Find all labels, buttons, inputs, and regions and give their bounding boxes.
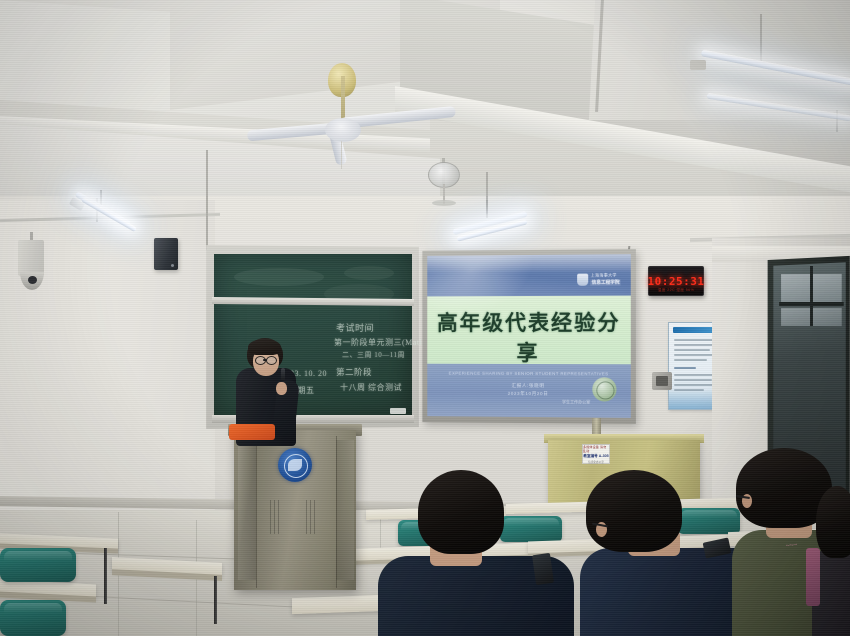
chair[interactable] — [0, 600, 66, 636]
chair-highlight — [4, 603, 62, 613]
chair-highlight — [4, 551, 72, 561]
cabinet-label-line-2: 教室编号 A-305 — [583, 454, 608, 459]
wall-speaker — [154, 238, 178, 270]
camera-lens-icon — [28, 276, 37, 284]
poster-subheading — [674, 367, 696, 369]
security-camera-housing — [18, 240, 44, 276]
poster-text-line — [674, 379, 712, 381]
slide-band-top: 上海海事大学 信息工程学院 — [427, 254, 631, 296]
hanging-wire-2 — [206, 150, 208, 250]
poster-heading — [673, 327, 715, 333]
slide-title: 高年级代表经验分享 — [427, 307, 631, 368]
chair-highlight — [681, 510, 737, 518]
speaker-led-icon — [171, 264, 174, 267]
desk-leg — [104, 548, 107, 604]
chalk-line-3: 二、三周 10—11周 — [342, 350, 405, 360]
cabinet-label-line-1: 多媒体设备 请勿乱动 — [583, 445, 609, 453]
podium-vent-slot — [310, 500, 311, 534]
wall-junction-box-face — [656, 376, 668, 386]
podium-side-panel-right — [336, 440, 354, 580]
door-mullion-v — [810, 266, 813, 326]
presenter-hand — [276, 382, 287, 395]
slide-presenter-line-1: 汇报人:张晓明 — [427, 383, 631, 390]
digital-wall-clock: 10:25:31 温度 22C 湿度 56% — [648, 266, 704, 296]
chalk-line-5: 十八周 综合测试 — [340, 382, 402, 393]
chalk-line-4: 第二阶段 — [336, 366, 372, 378]
student-4-bag-strap — [806, 548, 820, 606]
poster-text-line — [674, 384, 715, 386]
slide-logo-text: 上海海事大学 信息工程学院 — [591, 272, 621, 285]
student-4-hair — [816, 486, 850, 558]
partition-wall — [589, 0, 850, 120]
chair-highlight — [503, 518, 559, 526]
light-rod-2 — [486, 200, 488, 214]
podium-seam — [336, 436, 337, 588]
fan-downrod — [341, 76, 345, 122]
podium-vent-slot — [270, 500, 271, 534]
poster-text-line — [674, 374, 714, 376]
slide-glare-top — [427, 254, 631, 273]
chair[interactable] — [0, 548, 76, 582]
cabinet-label: 多媒体设备 请勿乱动 教室编号 A-305 信息化办公室 — [582, 444, 610, 464]
chalk-line-2: 第一阶段单元测三(Matlab) — [334, 337, 434, 348]
poster-text-line — [674, 359, 707, 361]
poster-text-line — [674, 339, 714, 341]
presenter-glasses-bridge — [263, 359, 267, 361]
slide-university-logo: 上海海事大学 信息工程学院 — [578, 272, 621, 285]
light-cap-3 — [690, 60, 706, 70]
chalk-line-1: 考试时间 — [336, 321, 374, 334]
chair[interactable] — [500, 516, 562, 542]
podium-vent-slot — [274, 500, 275, 534]
shield-icon — [578, 273, 589, 285]
clock-time: 10:25:31 — [648, 275, 705, 288]
microphone[interactable] — [281, 368, 285, 381]
poster-text-line — [674, 344, 715, 346]
podium-vent-slot — [278, 500, 279, 534]
poster-text-line — [674, 349, 710, 351]
presenter-glasses-right — [266, 356, 277, 365]
podium-seam — [256, 436, 257, 588]
projection-screen: 上海海事大学 信息工程学院 学生工作办公室 高年级代表经验分享 EXPERIEN… — [427, 254, 631, 418]
podium-vent-slot — [314, 500, 315, 534]
orange-bag — [229, 424, 275, 440]
chair[interactable] — [678, 508, 740, 534]
student-2-hair — [586, 470, 682, 552]
slide-presenter-line-2: 2023年10月20日 — [427, 390, 631, 397]
chalk-smudge-3 — [344, 266, 394, 280]
clock-sub-label: 温度 22C 湿度 56% — [649, 288, 703, 293]
chalk-smudge-1 — [234, 268, 324, 286]
desk-leg — [214, 576, 217, 624]
classroom-photo: 考试时间 第一阶段单元测三(Matlab) 二、三周 10—11周 第二阶段 十… — [0, 0, 850, 636]
fan-pull-chain[interactable] — [341, 141, 342, 169]
wall-fan-base — [432, 200, 456, 206]
podium-side-panel-left — [238, 440, 256, 580]
ceiling-fan-hub — [325, 118, 361, 142]
poster-text-line — [674, 354, 714, 356]
cabinet-label-line-3: 信息化办公室 — [588, 460, 604, 464]
student-1-hair — [418, 470, 504, 554]
presenter-fringe — [248, 339, 281, 355]
crest-glyph — [288, 459, 302, 471]
slide-seal-badge: 学生工作办公室 — [562, 399, 590, 405]
slide-logo-line-2: 信息工程学院 — [591, 279, 621, 285]
hanging-wire-4 — [760, 14, 762, 64]
slide-subtitle-en: EXPERIENCE SHARING BY SENIOR STUDENT REP… — [427, 371, 631, 377]
podium-vent-slot — [306, 500, 307, 534]
slide-logo-line-1: 上海海事大学 — [591, 272, 621, 278]
blackboard-eraser[interactable] — [390, 408, 406, 414]
